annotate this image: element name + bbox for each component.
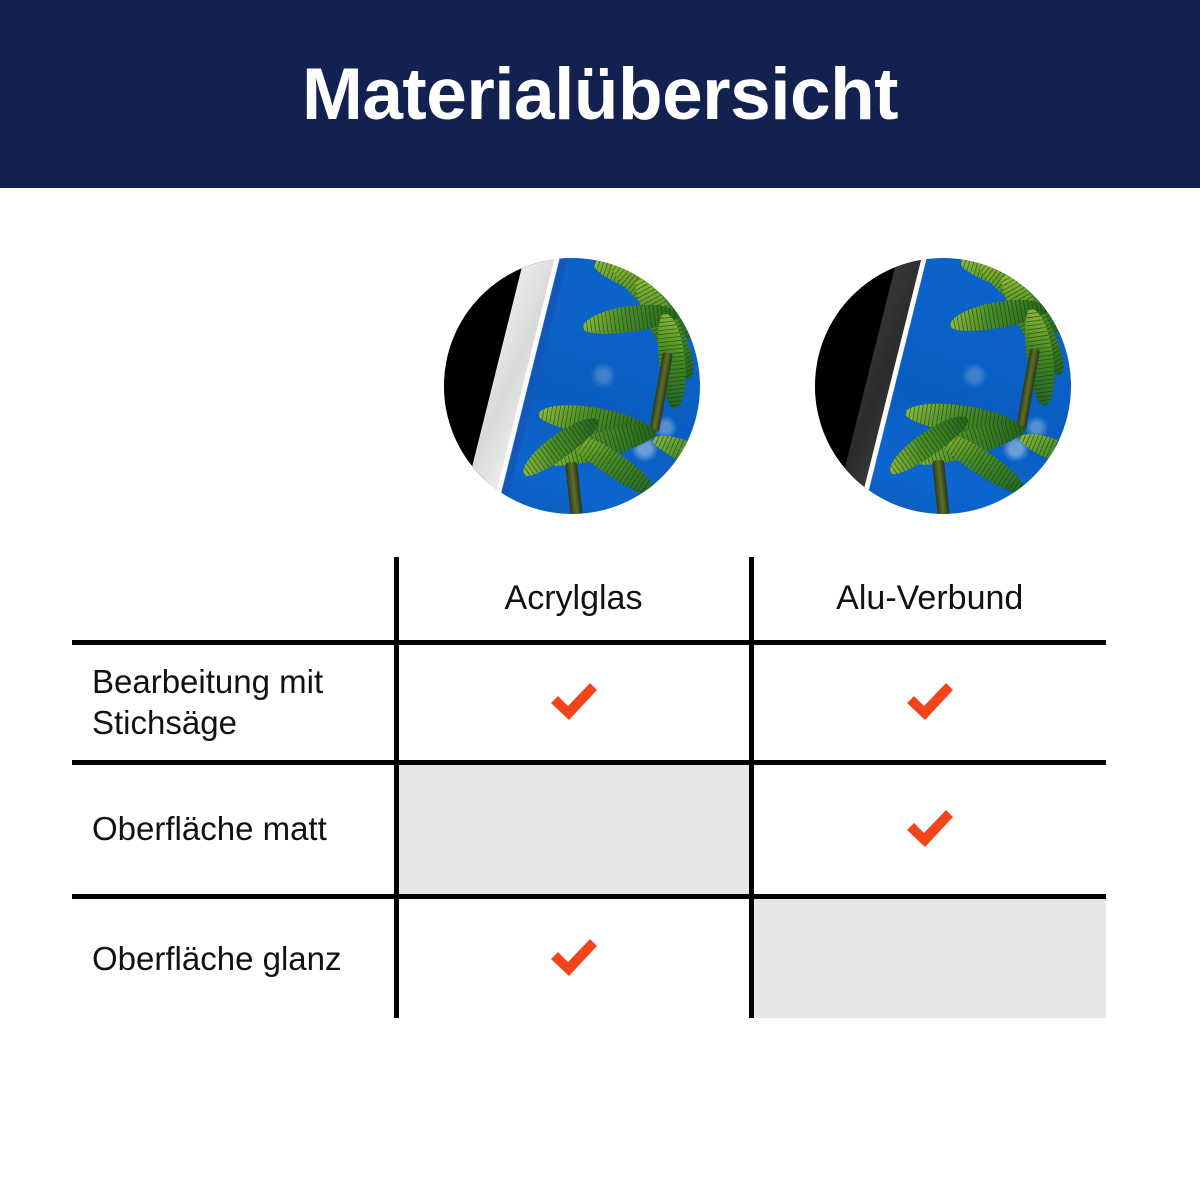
cell-glanz-alu-verbund — [751, 896, 1106, 1018]
column-header-alu-verbund: Alu-Verbund — [751, 557, 1106, 642]
unavailable-indicator — [754, 899, 1107, 1019]
table-header-row: Acrylglas Alu-Verbund — [72, 557, 1106, 642]
unavailable-indicator — [399, 765, 749, 894]
row-label-oberflaeche-matt: Oberfläche matt — [72, 762, 396, 896]
acrylglas-thumbnail-image — [444, 258, 700, 514]
alu-verbund-thumbnail[interactable] — [815, 258, 1071, 514]
alu-verbund-thumbnail-image — [815, 258, 1071, 514]
column-header-property — [72, 557, 396, 642]
cell-bearbeitung-alu-verbund — [751, 642, 1106, 762]
thumbnail-row — [0, 258, 1200, 520]
checkmark-icon — [901, 800, 959, 858]
column-header-acrylglas: Acrylglas — [396, 557, 751, 642]
page-title: Materialübersicht — [302, 58, 898, 131]
row-label-bearbeitung-mit-stichsaege: Bearbeitung mit Stichsäge — [72, 642, 396, 762]
header-banner: Materialübersicht — [0, 0, 1200, 188]
cell-matt-alu-verbund — [751, 762, 1106, 896]
table-row: Oberfläche matt — [72, 762, 1106, 896]
cell-glanz-acrylglas — [396, 896, 751, 1018]
row-label-line: Oberfläche glanz — [92, 940, 341, 977]
row-label-line: Bearbeitung mit — [92, 663, 323, 700]
cell-matt-acrylglas — [396, 762, 751, 896]
acrylglas-thumbnail[interactable] — [444, 258, 700, 514]
table-row: Oberfläche glanz — [72, 896, 1106, 1018]
table-row: Bearbeitung mit Stichsäge — [72, 642, 1106, 762]
row-label-line: Stichsäge — [92, 704, 237, 741]
checkmark-icon — [901, 673, 959, 731]
row-label-oberflaeche-glanz: Oberfläche glanz — [72, 896, 396, 1018]
material-overview-page: Materialübersicht — [0, 0, 1200, 1200]
material-comparison-table-wrapper: Acrylglas Alu-Verbund Bearbeitung mit St… — [72, 557, 1106, 1013]
checkmark-icon — [545, 929, 603, 987]
material-comparison-table: Acrylglas Alu-Verbund Bearbeitung mit St… — [72, 557, 1106, 1018]
cell-bearbeitung-acrylglas — [396, 642, 751, 762]
checkmark-icon — [545, 673, 603, 731]
row-label-line: Oberfläche matt — [92, 810, 327, 847]
